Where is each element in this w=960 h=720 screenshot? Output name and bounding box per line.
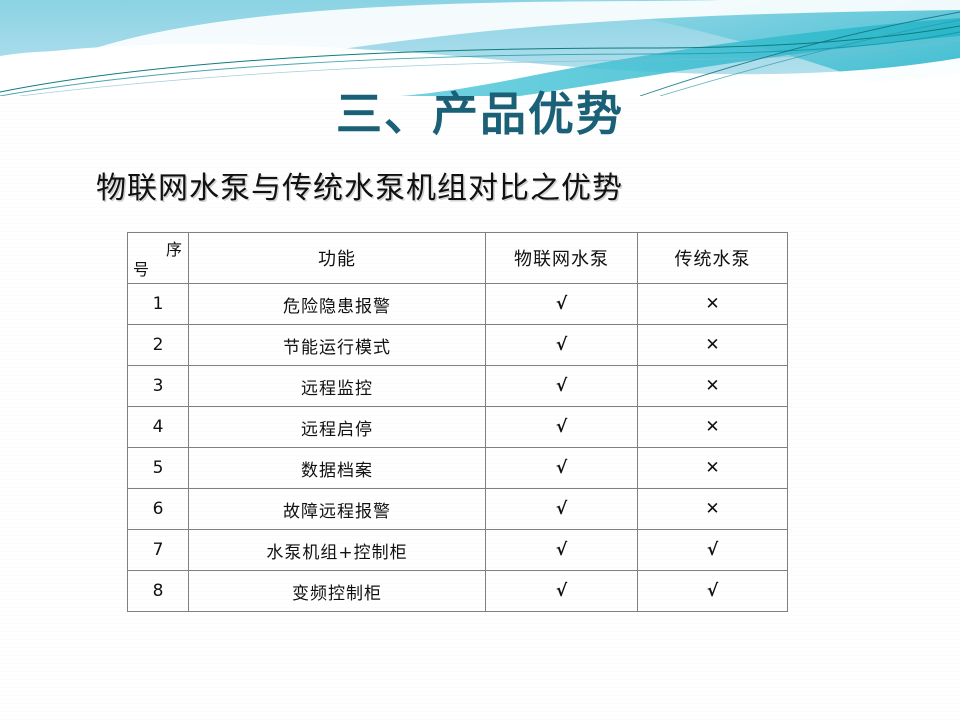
cell-iot-mark: √ <box>486 530 638 571</box>
cell-traditional-mark: ✕ <box>638 366 788 407</box>
slide-title: 三、产品优势 <box>0 88 960 141</box>
cell-traditional-mark: √ <box>638 530 788 571</box>
row-function: 危险隐患报警 <box>189 284 486 325</box>
comparison-table-wrapper: 序 号 功能 物联网水泵 传统水泵 1 危险隐患报警 √ ✕ 2 节能 <box>127 232 787 612</box>
row-function: 远程监控 <box>189 366 486 407</box>
row-function: 数据档案 <box>189 448 486 489</box>
wave-graphic <box>0 0 960 96</box>
table-row: 3 远程监控 √ ✕ <box>128 366 788 407</box>
cell-iot-mark: √ <box>486 448 638 489</box>
cell-traditional-mark: ✕ <box>638 284 788 325</box>
row-function: 变频控制柜 <box>189 571 486 612</box>
table-row: 6 故障远程报警 √ ✕ <box>128 489 788 530</box>
header-cell-function: 功能 <box>189 233 486 284</box>
row-function: 水泵机组+控制柜 <box>189 530 486 571</box>
table-row: 2 节能运行模式 √ ✕ <box>128 325 788 366</box>
header-wave-decoration <box>0 0 960 96</box>
cell-iot-mark: √ <box>486 407 638 448</box>
row-index: 7 <box>128 530 189 571</box>
header-cell-traditional-pump: 传统水泵 <box>638 233 788 284</box>
header-cell-iot-pump: 物联网水泵 <box>486 233 638 284</box>
row-index: 5 <box>128 448 189 489</box>
row-index: 3 <box>128 366 189 407</box>
row-index: 8 <box>128 571 189 612</box>
table-row: 4 远程启停 √ ✕ <box>128 407 788 448</box>
comparison-table: 序 号 功能 物联网水泵 传统水泵 1 危险隐患报警 √ ✕ 2 节能 <box>127 232 788 612</box>
index-header-lower: 号 <box>133 256 149 280</box>
row-index: 4 <box>128 407 189 448</box>
cell-iot-mark: √ <box>486 489 638 530</box>
slide-canvas: 三、产品优势 物联网水泵与传统水泵机组对比之优势 序 号 功能 物联网水泵 <box>0 0 960 720</box>
cell-iot-mark: √ <box>486 571 638 612</box>
table-row: 5 数据档案 √ ✕ <box>128 448 788 489</box>
cell-traditional-mark: ✕ <box>638 325 788 366</box>
cell-traditional-mark: √ <box>638 571 788 612</box>
cell-iot-mark: √ <box>486 325 638 366</box>
table-row: 8 变频控制柜 √ √ <box>128 571 788 612</box>
cell-iot-mark: √ <box>486 284 638 325</box>
row-index: 2 <box>128 325 189 366</box>
slide-subtitle: 物联网水泵与传统水泵机组对比之优势 <box>96 163 736 207</box>
table-row: 7 水泵机组+控制柜 √ √ <box>128 530 788 571</box>
table-row: 1 危险隐患报警 √ ✕ <box>128 284 788 325</box>
row-index: 1 <box>128 284 189 325</box>
table-header-row: 序 号 功能 物联网水泵 传统水泵 <box>128 233 788 284</box>
row-index: 6 <box>128 489 189 530</box>
header-cell-index: 序 号 <box>128 233 189 284</box>
index-header-diagonal: 序 号 <box>128 235 188 281</box>
cell-iot-mark: √ <box>486 366 638 407</box>
cell-traditional-mark: ✕ <box>638 407 788 448</box>
cell-traditional-mark: ✕ <box>638 489 788 530</box>
row-function: 节能运行模式 <box>189 325 486 366</box>
row-function: 故障远程报警 <box>189 489 486 530</box>
index-header-upper: 序 <box>166 236 182 260</box>
cell-traditional-mark: ✕ <box>638 448 788 489</box>
row-function: 远程启停 <box>189 407 486 448</box>
